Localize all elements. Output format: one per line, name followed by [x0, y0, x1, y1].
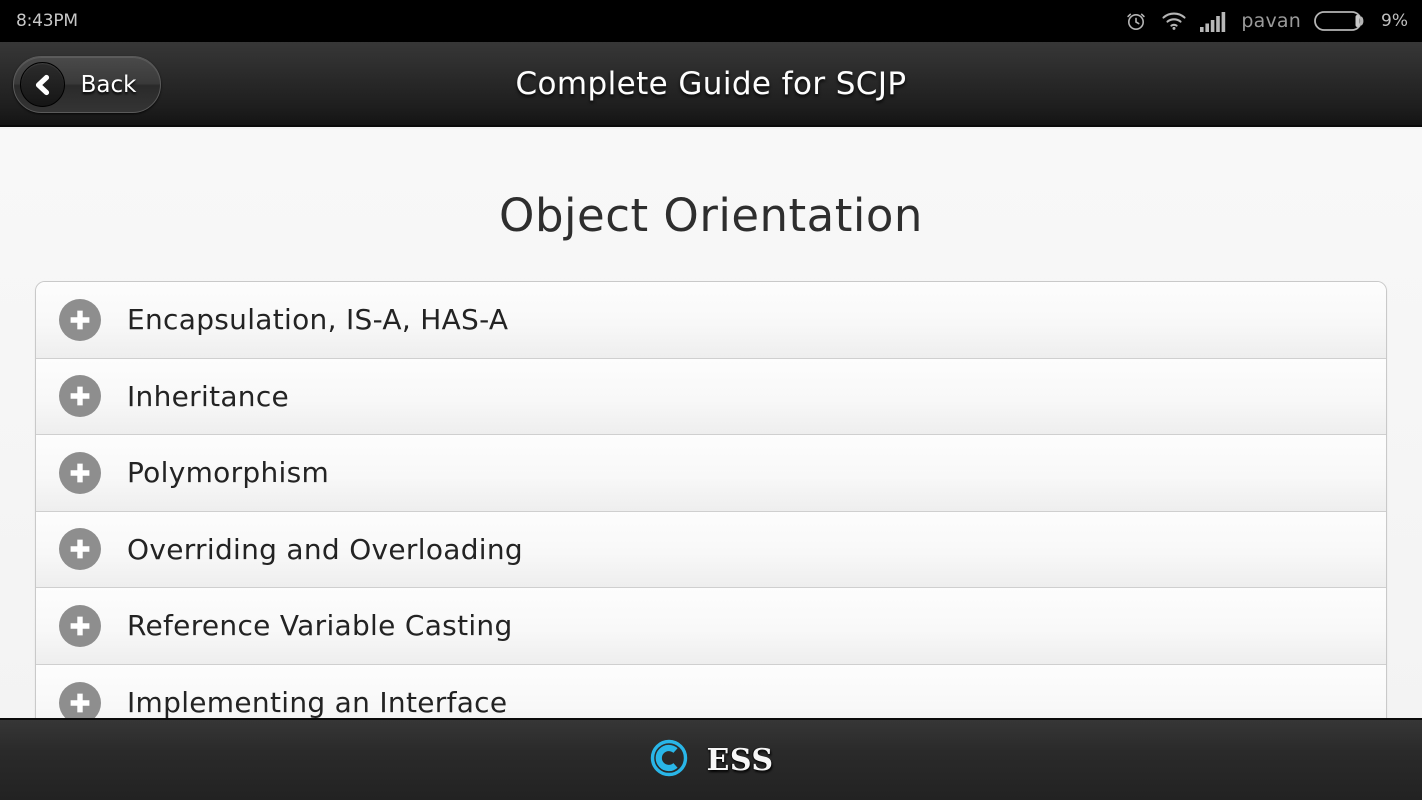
list-item-label: Encapsulation, IS-A, HAS-A [127, 303, 508, 336]
list-item-label: Inheritance [127, 380, 289, 413]
list-item[interactable]: Polymorphism [36, 435, 1386, 512]
content-area: Object Orientation Encapsulation, IS-A, … [0, 129, 1422, 718]
signal-bars-icon [1200, 10, 1228, 32]
battery-icon [1314, 9, 1368, 33]
app-screen: 8:43PM [0, 0, 1422, 800]
list-item[interactable]: Inheritance [36, 359, 1386, 436]
bottom-branding-bar: ESS [0, 718, 1422, 800]
wifi-icon [1161, 11, 1187, 31]
list-item[interactable]: Reference Variable Casting [36, 588, 1386, 665]
plus-icon [59, 452, 101, 494]
list-item[interactable]: Encapsulation, IS-A, HAS-A [36, 282, 1386, 359]
topic-list: Encapsulation, IS-A, HAS-A Inheritance P… [35, 281, 1387, 718]
plus-icon [59, 375, 101, 417]
carrier-name: pavan [1241, 10, 1301, 32]
title-bar: Back Complete Guide for SCJP [0, 42, 1422, 127]
page-title: Complete Guide for SCJP [0, 66, 1422, 102]
plus-icon [59, 528, 101, 570]
list-item-label: Reference Variable Casting [127, 609, 513, 642]
status-indicators: pavan 9% [1124, 9, 1408, 33]
list-item-label: Overriding and Overloading [127, 533, 523, 566]
plus-icon [59, 682, 101, 718]
battery-percentage: 9% [1381, 11, 1408, 31]
ess-logo-icon [648, 737, 690, 784]
brand-name: ESS [706, 743, 773, 778]
status-clock: 8:43PM [16, 11, 78, 31]
plus-icon [59, 299, 101, 341]
list-item[interactable]: Implementing an Interface [36, 665, 1386, 719]
status-bar: 8:43PM [0, 0, 1422, 42]
section-heading: Object Orientation [0, 189, 1422, 242]
list-item[interactable]: Overriding and Overloading [36, 512, 1386, 589]
list-item-label: Implementing an Interface [127, 686, 507, 718]
alarm-clock-icon [1124, 9, 1148, 33]
plus-icon [59, 605, 101, 647]
list-item-label: Polymorphism [127, 456, 329, 489]
